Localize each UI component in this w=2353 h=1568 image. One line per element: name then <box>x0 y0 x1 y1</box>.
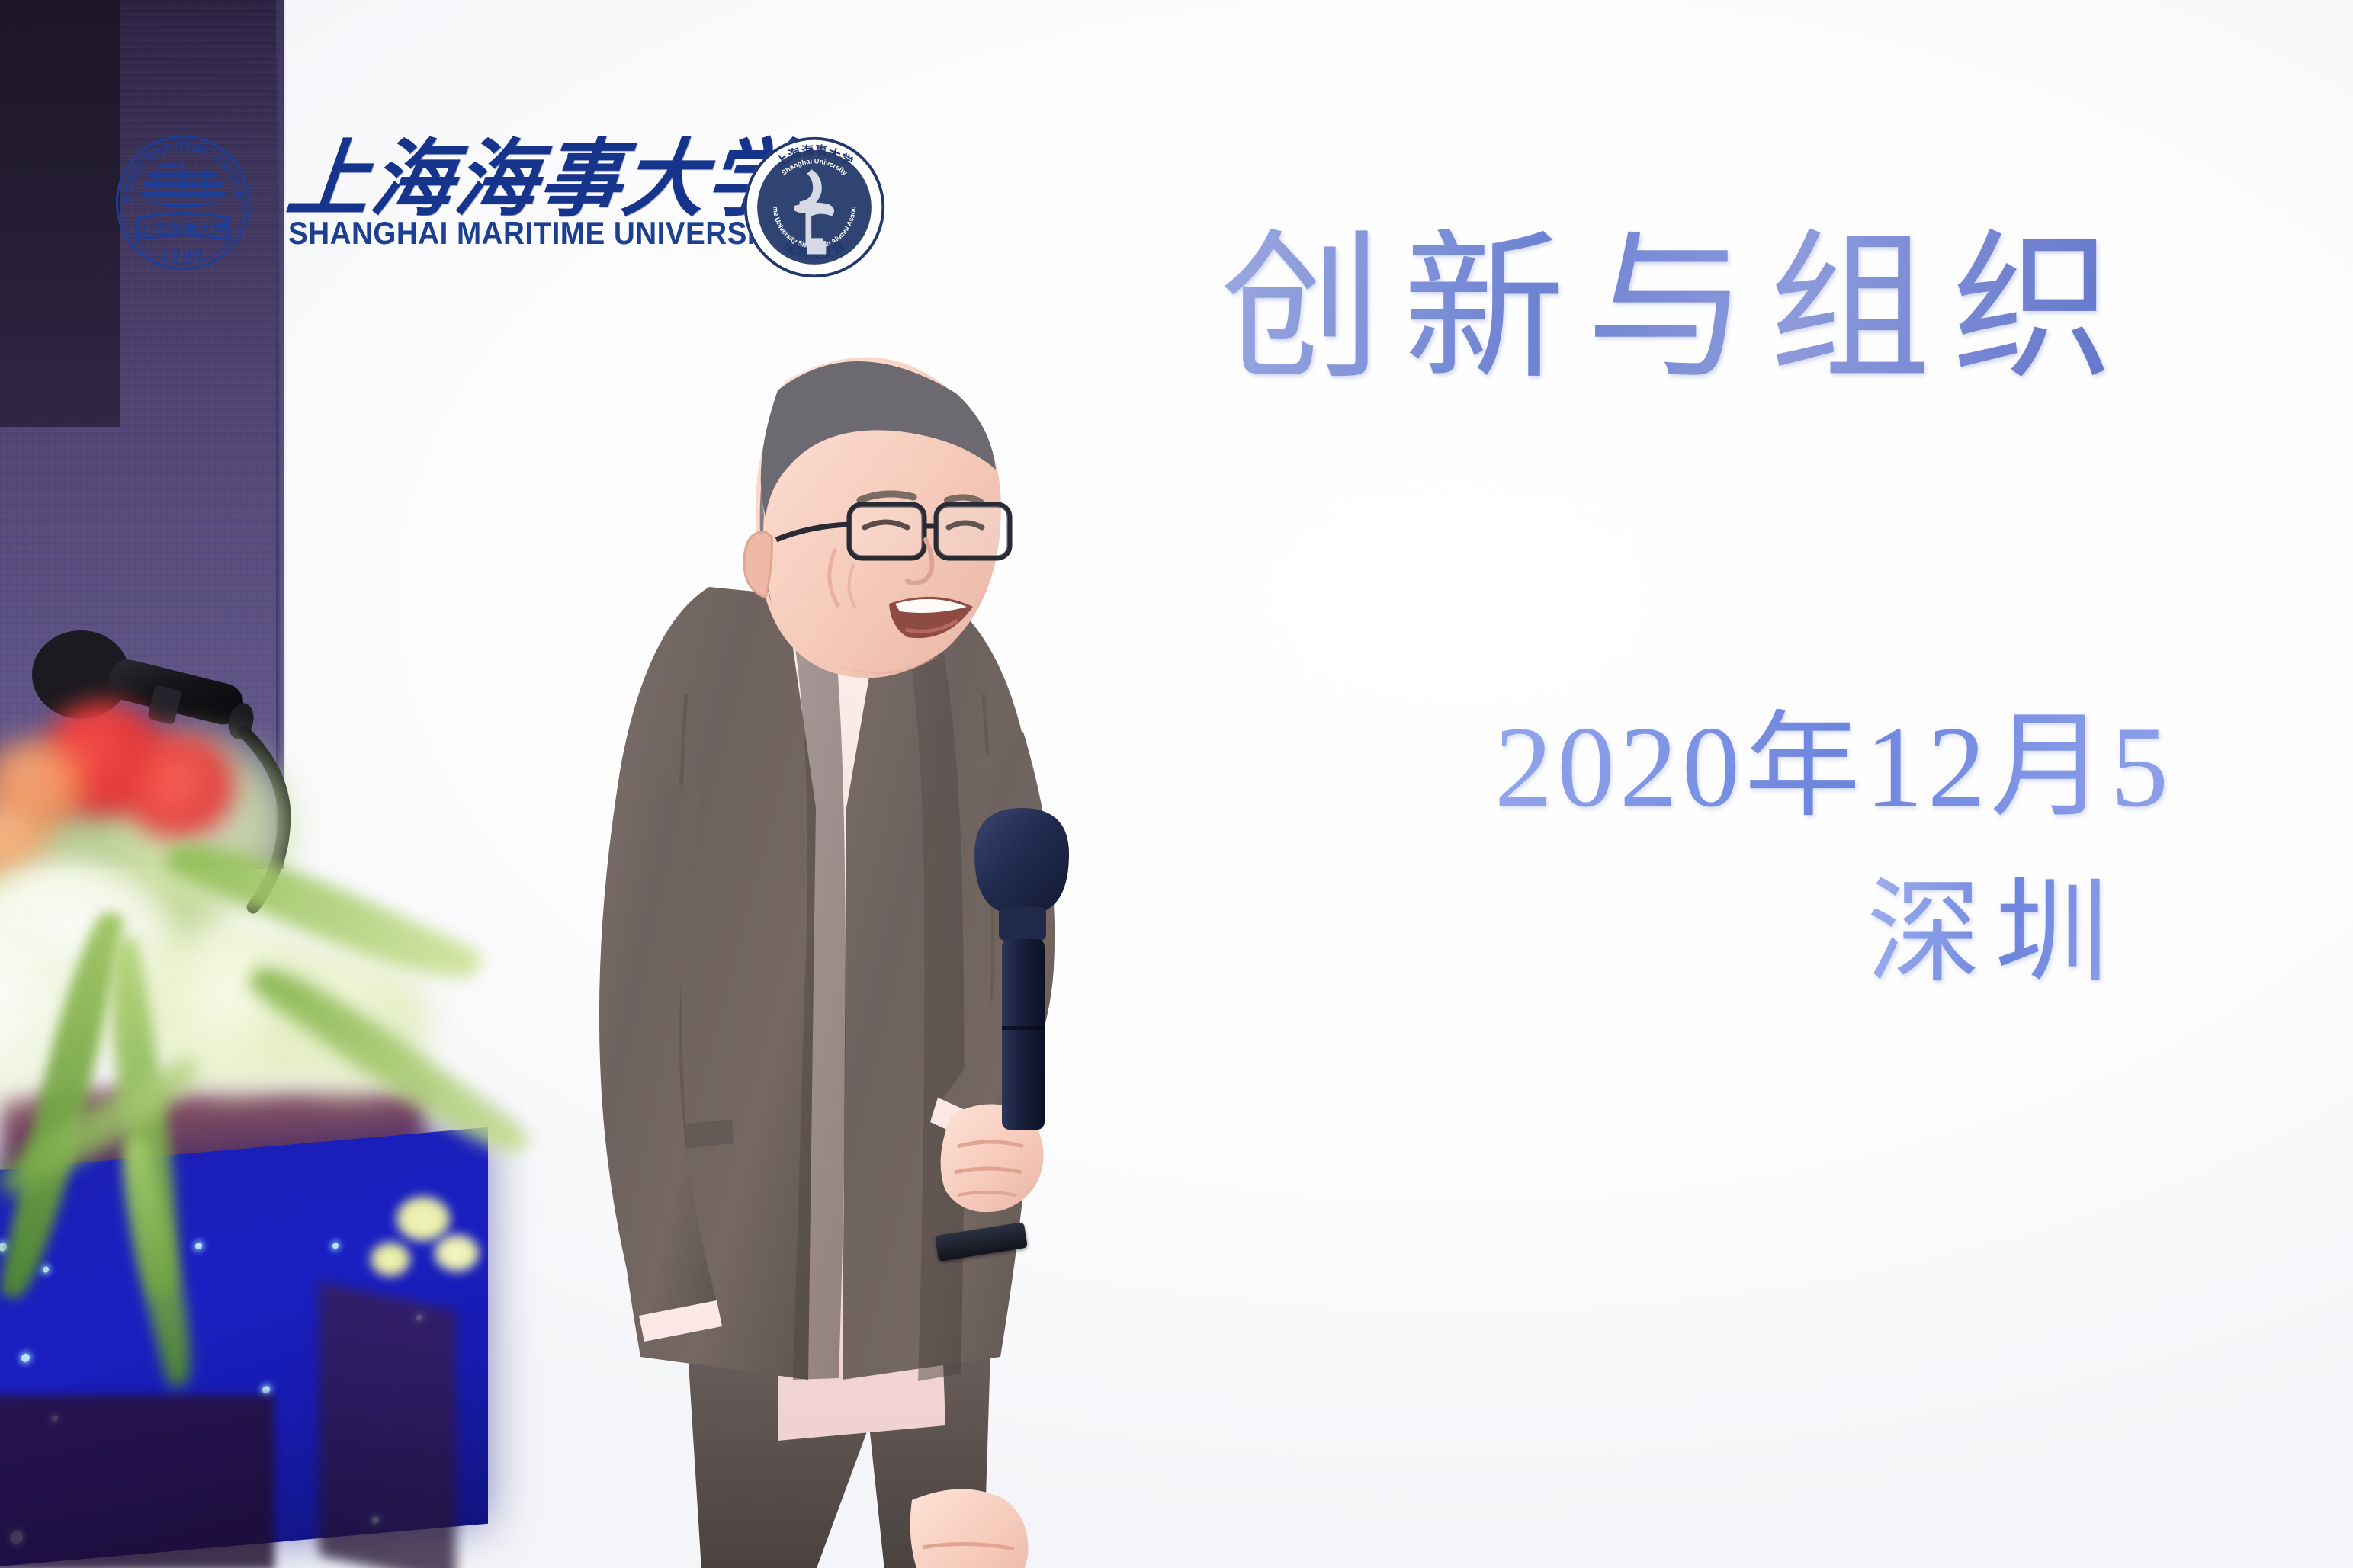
svg-text:上海海事大学: 上海海事大学 <box>139 220 227 236</box>
flower-arrangement <box>0 709 595 1395</box>
slide-date: 2020年12月5 <box>1494 709 2173 825</box>
stage-photo: SHANGHAI MARITIME UNIVERSITY 上海海事大学 1909… <box>0 0 2353 1568</box>
wordmark-english: SHANGHAI MARITIME UNIVERSITY <box>288 215 794 252</box>
smu-wordmark: 上海海事大学 SHANGHAI MARITIME UNIVERSITY <box>284 113 756 281</box>
svg-text:1909: 1909 <box>161 245 204 264</box>
hand-left-shape <box>910 1489 1029 1568</box>
handheld-microphone <box>959 800 1089 1136</box>
stage-dark-strip <box>0 0 120 427</box>
shenzhen-alumni-association-seal: 上海海事大学 Shanghai University 深圳校友会 Maritim… <box>741 134 888 281</box>
slide-title: 创新与组织 <box>1220 229 2135 390</box>
shanghai-maritime-university-seal: SHANGHAI MARITIME UNIVERSITY 上海海事大学 1909 <box>113 133 253 273</box>
podium-front-shadow <box>0 1395 274 1568</box>
slide-place: 深圳 <box>1867 877 2123 991</box>
